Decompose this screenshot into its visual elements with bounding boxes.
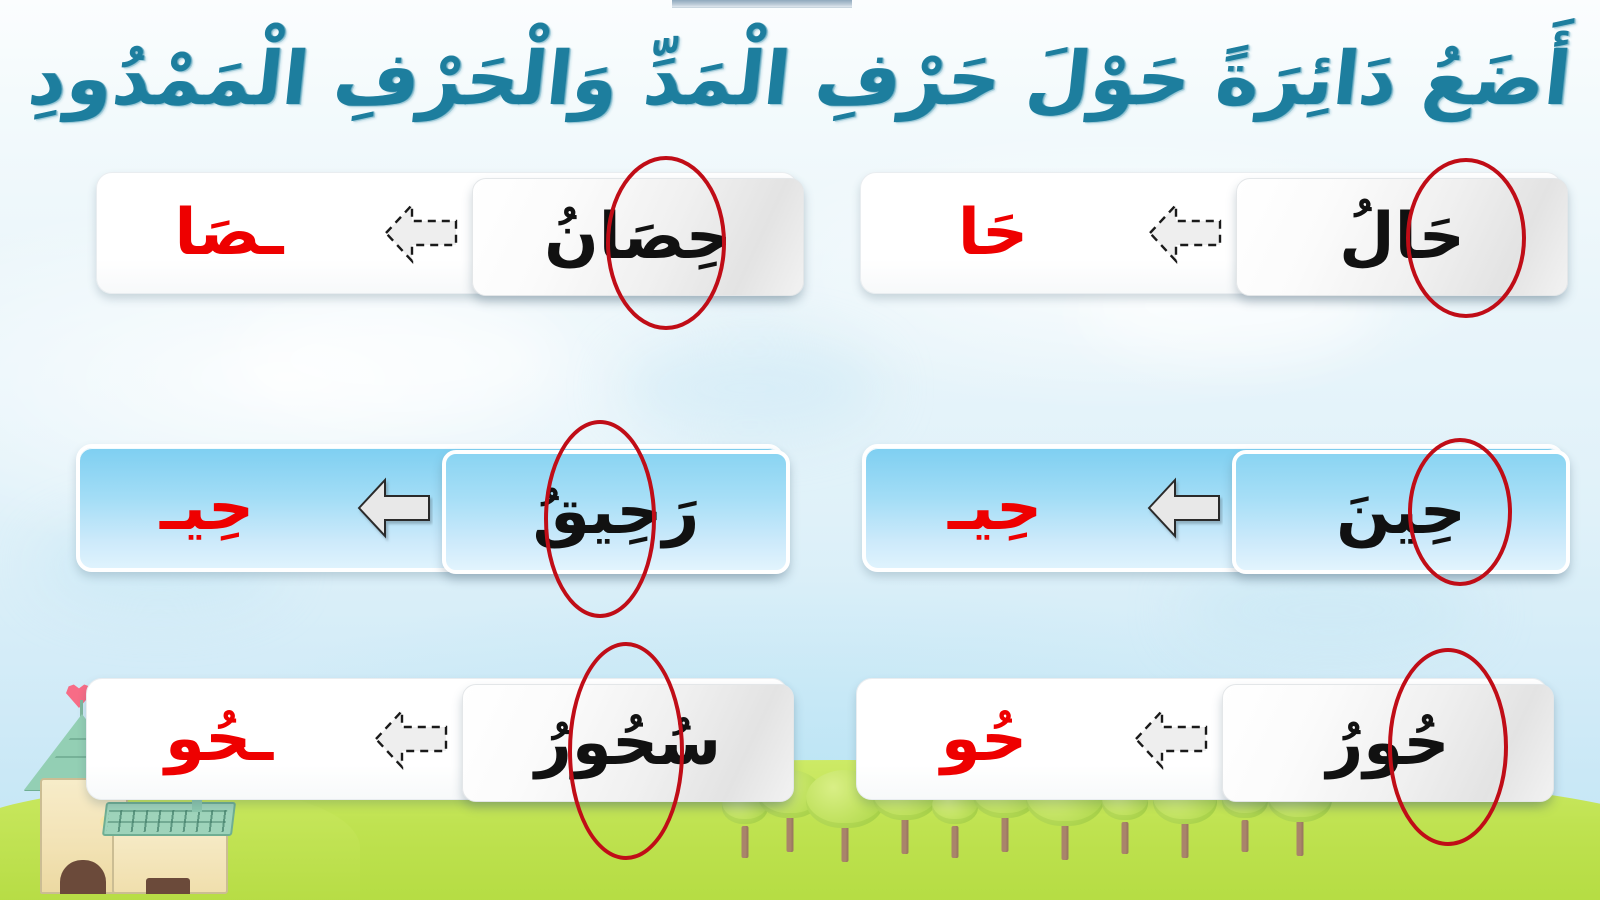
direction-arrow [1125, 197, 1245, 269]
arabic-word: سُحُورُ [529, 711, 727, 775]
fragment-slot: حِيـ [866, 476, 1124, 540]
arabic-word: حُورُ [1320, 711, 1455, 775]
arrow-left-dashed-icon [1132, 703, 1210, 775]
madd-fragment: حُو [941, 707, 1027, 771]
exercise-item[interactable]: حُوحُورُ [856, 678, 1548, 800]
arrow-left-solid-icon [1145, 472, 1223, 544]
word-card[interactable]: حِصَانُ [472, 178, 804, 296]
exercise-item[interactable]: حِيـحِينَ [862, 444, 1564, 572]
exercise-item[interactable]: ـصَاحِصَانُ [96, 172, 798, 294]
arrow-left-dashed-icon [382, 197, 460, 269]
madd-fragment: حِيـ [948, 476, 1042, 540]
arabic-word: حِينَ [1330, 480, 1472, 544]
arabic-word: حَالُ [1333, 205, 1471, 269]
madd-fragment: حَا [958, 201, 1028, 265]
fragment-slot: ـحُو [87, 707, 351, 771]
fragment-slot: ـصَا [97, 201, 361, 265]
direction-arrow [351, 703, 471, 775]
exercise-item[interactable]: حَاحَالُ [860, 172, 1562, 294]
madd-fragment: ـحُو [165, 707, 273, 771]
madd-fragment: حِيـ [160, 476, 254, 540]
fragment-slot: حِيـ [80, 476, 334, 540]
word-card[interactable]: حُورُ [1222, 684, 1554, 802]
arrow-left-solid-icon [355, 472, 433, 544]
exercise-row: حِيـحِينَحِيـرَحِيقُ [0, 444, 1600, 584]
arrow-left-dashed-icon [372, 703, 450, 775]
madd-fragment: ـصَا [175, 201, 284, 265]
slide-canvas: أَضَعُ دَائِرَةً حَوْلَ حَرْفِ الْمَدِّ … [0, 0, 1600, 900]
arrow-left-dashed-icon [1146, 197, 1224, 269]
fragment-slot: حَا [861, 201, 1125, 265]
direction-arrow [361, 197, 481, 269]
exercise-row: حُوحُورُـحُوسُحُورُ [0, 678, 1600, 818]
word-card[interactable]: حِينَ [1232, 450, 1570, 574]
exercise-row: حَاحَالُـصَاحِصَانُ [0, 172, 1600, 312]
fragment-slot: حُو [857, 707, 1111, 771]
word-card[interactable]: رَحِيقُ [442, 450, 790, 574]
word-card[interactable]: حَالُ [1236, 178, 1568, 296]
direction-arrow [1124, 472, 1244, 544]
direction-arrow [1111, 703, 1231, 775]
arabic-word: حِصَانُ [538, 205, 738, 269]
exercise-item[interactable]: حِيـرَحِيقُ [76, 444, 784, 572]
exercise-item[interactable]: ـحُوسُحُورُ [86, 678, 788, 800]
exercise-rows: حَاحَالُـصَاحِصَانُحِيـحِينَحِيـرَحِيقُح… [0, 0, 1600, 900]
word-card[interactable]: سُحُورُ [462, 684, 794, 802]
arabic-word: رَحِيقُ [527, 480, 706, 544]
direction-arrow [334, 472, 454, 544]
